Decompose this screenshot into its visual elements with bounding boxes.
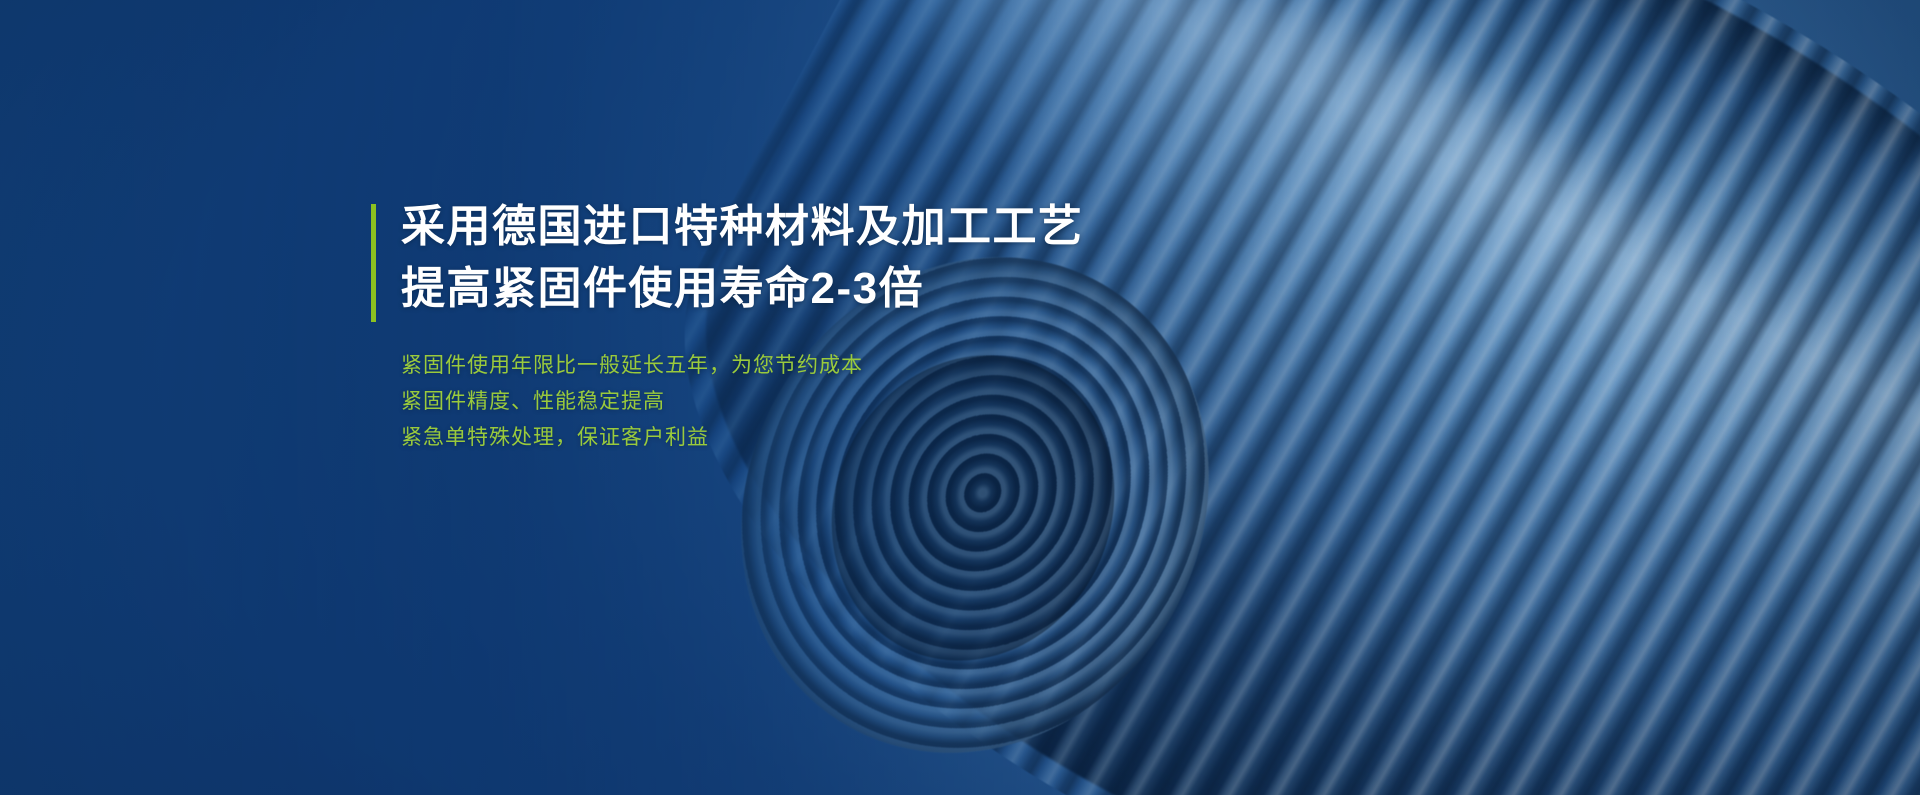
hero-banner: 采用德国进口特种材料及加工工艺 提高紧固件使用寿命2-3倍 紧固件使用年限比一般… [0,0,1920,795]
green-accent-bar [371,204,376,322]
banner-content: 采用德国进口特种材料及加工工艺 提高紧固件使用寿命2-3倍 紧固件使用年限比一般… [371,196,1271,456]
sub-line-3: 紧急单特殊处理，保证客户利益 [401,420,1271,456]
sub-line-1: 紧固件使用年限比一般延长五年，为您节约成本 [401,348,1271,384]
sub-line-2: 紧固件精度、性能稳定提高 [401,384,1271,420]
subcopy-block: 紧固件使用年限比一般延长五年，为您节约成本 紧固件精度、性能稳定提高 紧急单特殊… [371,348,1271,456]
headline-line-2: 提高紧固件使用寿命2-3倍 [401,258,1271,320]
headline-line-1: 采用德国进口特种材料及加工工艺 [401,196,1271,258]
headline-block: 采用德国进口特种材料及加工工艺 提高紧固件使用寿命2-3倍 [371,196,1271,320]
